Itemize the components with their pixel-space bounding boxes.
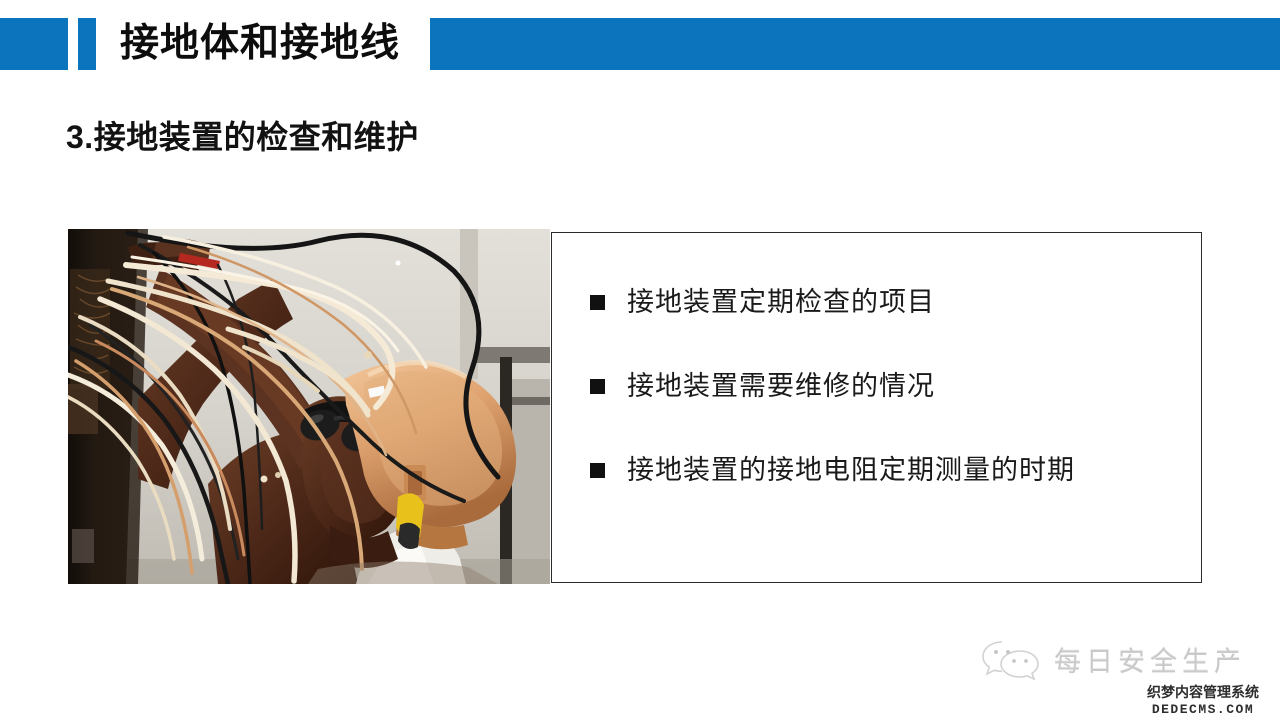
header-accent-bar-right [430, 18, 1280, 70]
header-band: 接地体和接地线 [0, 0, 1280, 90]
square-bullet-icon [590, 379, 605, 394]
watermark: 每日安全生产 织梦内容管理系统 DEDECMS.COM [980, 638, 1280, 720]
list-item: 接地装置定期检查的项目 [590, 281, 1190, 323]
square-bullet-icon [590, 295, 605, 310]
dedecms-watermark: 织梦内容管理系统 DEDECMS.COM [1128, 682, 1278, 717]
watermark-brand-row: 每日安全生产 [980, 638, 1246, 680]
list-item-label: 接地装置定期检查的项目 [627, 281, 935, 323]
worker-photo-illustration [68, 229, 550, 584]
list-item-label: 接地装置需要维修的情况 [627, 365, 935, 407]
wechat-icon [980, 638, 1044, 680]
worker-photo [68, 229, 550, 584]
bullet-list-box: 接地装置定期检查的项目 接地装置需要维修的情况 接地装置的接地电阻定期测量的时期 [551, 232, 1202, 583]
list-item-label: 接地装置的接地电阻定期测量的时期 [627, 449, 1075, 491]
watermark-brand-label: 每日安全生产 [1054, 640, 1246, 679]
page-title: 接地体和接地线 [120, 14, 400, 74]
bullet-list: 接地装置定期检查的项目 接地装置需要维修的情况 接地装置的接地电阻定期测量的时期 [590, 281, 1190, 491]
header-accent-block-left [0, 18, 68, 70]
dedecms-cn-label: 织梦内容管理系统 [1128, 682, 1278, 702]
dedecms-en-label: DEDECMS.COM [1128, 702, 1278, 717]
square-bullet-icon [590, 463, 605, 478]
header-accent-block-tick [78, 18, 96, 70]
section-heading: 3.接地装置的检查和维护 [66, 112, 419, 158]
list-item: 接地装置需要维修的情况 [590, 365, 1190, 407]
list-item: 接地装置的接地电阻定期测量的时期 [590, 449, 1190, 491]
